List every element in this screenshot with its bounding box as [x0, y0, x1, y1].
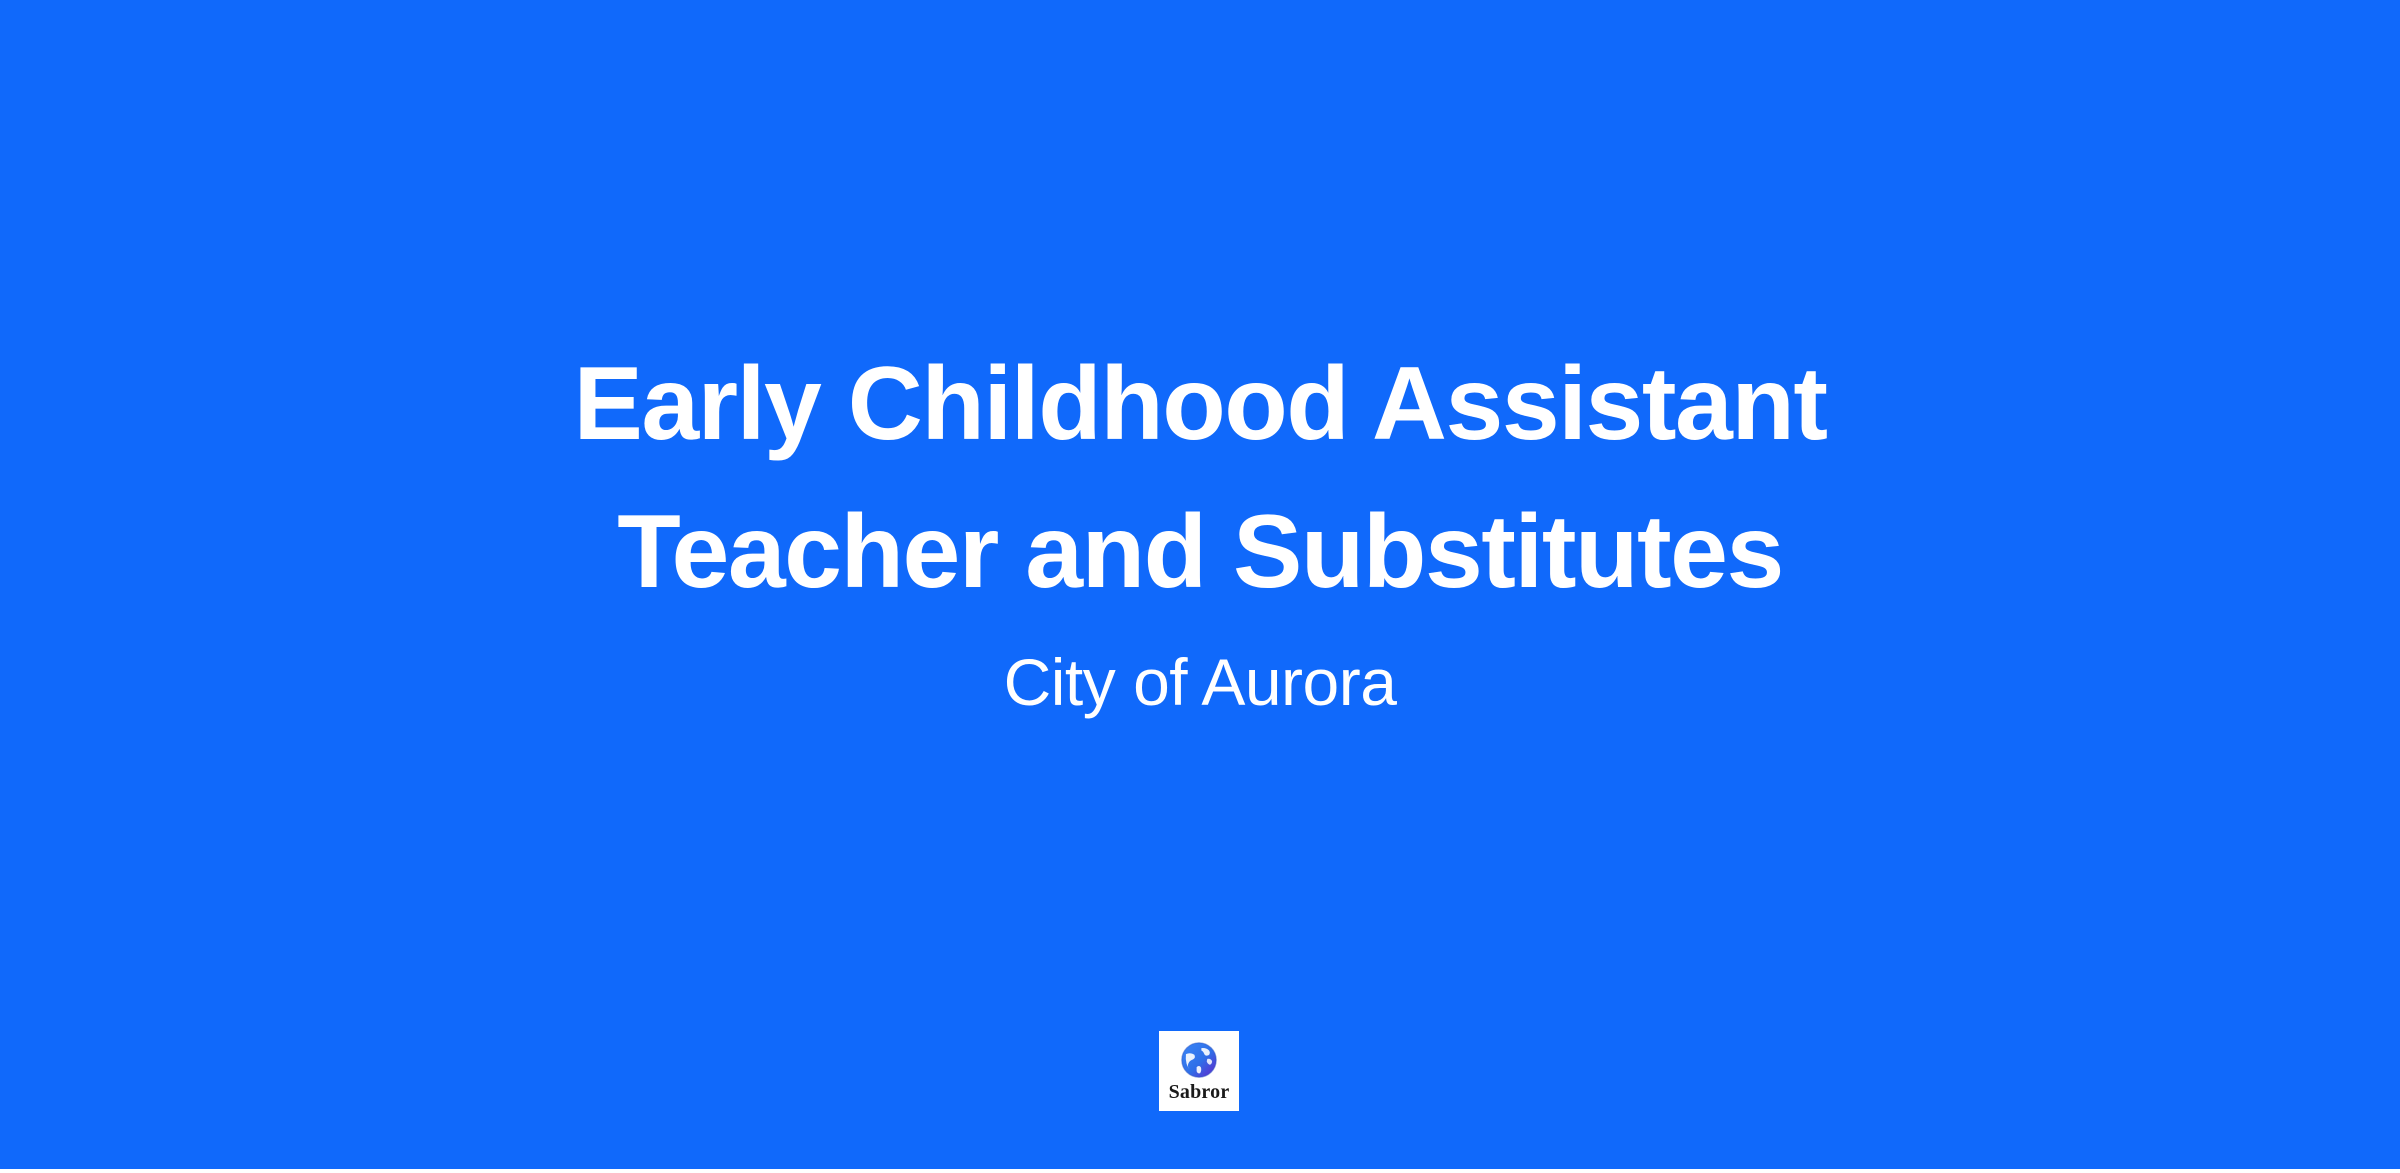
brand-name: Sabror: [1169, 1081, 1230, 1103]
organization-name: City of Aurora: [0, 640, 2400, 724]
brand-logo-card: Sabror: [1159, 1031, 1239, 1111]
page-title: Early Childhood Assistant Teacher and Su…: [0, 330, 2400, 626]
job-posting-hero: Early Childhood Assistant Teacher and Su…: [0, 0, 2400, 1169]
bottom-strip: [0, 1169, 2400, 1173]
hero-text-block: Early Childhood Assistant Teacher and Su…: [0, 330, 2400, 724]
globe-icon: [1180, 1039, 1218, 1079]
